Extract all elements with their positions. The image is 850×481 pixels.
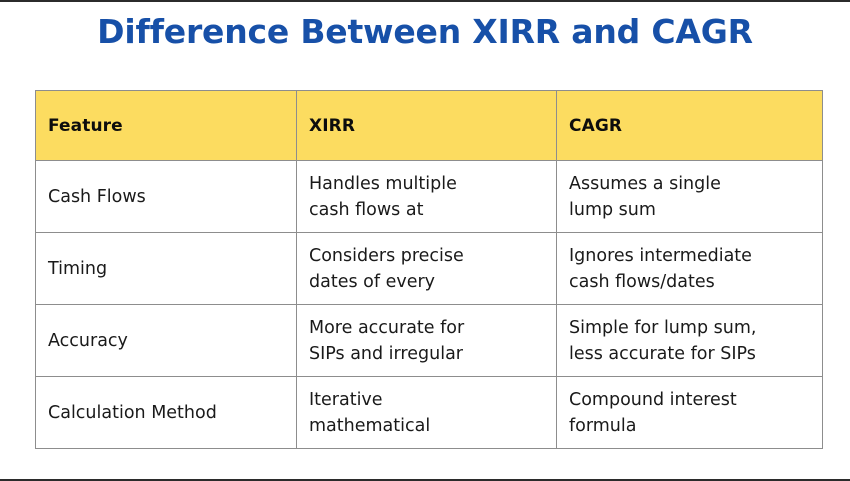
cell-xirr-line-2: SIPs and irregular — [309, 341, 544, 367]
cell-xirr-line-2: cash flows at — [309, 197, 544, 223]
column-header-xirr: XIRR — [297, 91, 557, 161]
table-header-row: Feature XIRR CAGR — [36, 91, 823, 161]
column-header-feature: Feature — [36, 91, 297, 161]
comparison-table: Feature XIRR CAGR Cash Flows Handles mul… — [35, 90, 823, 449]
slide-canvas: Difference Between XIRR and CAGR Feature… — [0, 0, 850, 481]
cell-cagr-line-1: Compound interest — [569, 387, 810, 413]
cell-xirr-line-1: More accurate for — [309, 315, 544, 341]
table-row: Timing Considers precise dates of every … — [36, 233, 823, 305]
cell-cagr-line-1: Assumes a single — [569, 171, 810, 197]
cell-xirr: Considers precise dates of every — [297, 233, 557, 305]
cell-cagr: Simple for lump sum, less accurate for S… — [557, 305, 823, 377]
page-title: Difference Between XIRR and CAGR — [97, 10, 753, 54]
cell-cagr: Assumes a single lump sum — [557, 161, 823, 233]
cell-cagr: Compound interest formula — [557, 377, 823, 449]
cell-xirr-line-1: Considers precise — [309, 243, 544, 269]
table-body: Cash Flows Handles multiple cash flows a… — [36, 161, 823, 449]
title-bar: Difference Between XIRR and CAGR — [0, 10, 850, 54]
cell-feature: Accuracy — [36, 305, 297, 377]
cell-xirr: Handles multiple cash flows at — [297, 161, 557, 233]
cell-cagr-line-2: lump sum — [569, 197, 810, 223]
cell-cagr-line-1: Ignores intermediate — [569, 243, 810, 269]
cell-feature: Calculation Method — [36, 377, 297, 449]
cell-feature: Cash Flows — [36, 161, 297, 233]
cell-xirr: More accurate for SIPs and irregular — [297, 305, 557, 377]
cell-xirr-line-2: mathematical — [309, 413, 544, 439]
cell-cagr-line-2: formula — [569, 413, 810, 439]
cell-cagr-line-1: Simple for lump sum, — [569, 315, 810, 341]
table-row: Accuracy More accurate for SIPs and irre… — [36, 305, 823, 377]
cell-cagr-line-2: less accurate for SIPs — [569, 341, 810, 367]
column-header-cagr: CAGR — [557, 91, 823, 161]
cell-feature: Timing — [36, 233, 297, 305]
cell-xirr: Iterative mathematical — [297, 377, 557, 449]
table-row: Cash Flows Handles multiple cash flows a… — [36, 161, 823, 233]
cell-xirr-line-2: dates of every — [309, 269, 544, 295]
cell-xirr-line-1: Iterative — [309, 387, 544, 413]
cell-cagr: Ignores intermediate cash flows/dates — [557, 233, 823, 305]
table-header: Feature XIRR CAGR — [36, 91, 823, 161]
cell-cagr-line-2: cash flows/dates — [569, 269, 810, 295]
cell-xirr-line-1: Handles multiple — [309, 171, 544, 197]
table-row: Calculation Method Iterative mathematica… — [36, 377, 823, 449]
